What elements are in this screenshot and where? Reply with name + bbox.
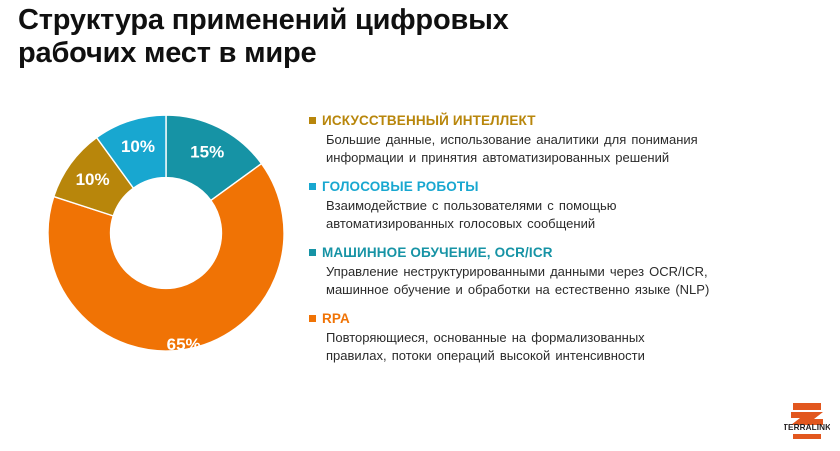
legend-description-line-2: правилах, потоки операций высокой интенс… [326,347,804,365]
legend-heading-row: ГОЛОСОВЫЕ РОБОТЫ [309,179,804,194]
donut-slice-label: 65% [167,335,201,354]
legend-description-line-1: Повторяющиеся, основанные на формализова… [326,329,804,347]
legend-item-machine-learning[interactable]: МАШИННОЕ ОБУЧЕНИЕ, OCR/ICR Управление не… [309,245,804,299]
page-title: Структура применений цифровых рабочих ме… [18,4,718,71]
donut-chart-svg: 15%65%10%10% [44,111,288,355]
legend-item-voice-robots[interactable]: ГОЛОСОВЫЕ РОБОТЫ Взаимодействие с пользо… [309,179,804,233]
legend-bullet-square-icon [309,183,316,190]
legend-heading-label: ГОЛОСОВЫЕ РОБОТЫ [322,179,479,194]
legend-heading-label: ИСКУССТВЕННЫЙ ИНТЕЛЛЕКТ [322,113,536,128]
legend-description-line-2: автоматизированных голосовых сообщений [326,215,804,233]
legend-description-line-2: информации и принятия автоматизированных… [326,149,804,167]
donut-slice-group [48,115,284,351]
legend-heading-row: ИСКУССТВЕННЫЙ ИНТЕЛЛЕКТ [309,113,804,128]
page-title-line-1: Структура применений цифровых [18,4,718,37]
donut-slice-label: 15% [190,143,224,162]
donut-chart: 15%65%10%10% [44,111,288,355]
legend-description: Взаимодействие с пользователями с помощь… [326,197,804,233]
legend-item-rpa[interactable]: RPA Повторяющиеся, основанные на формали… [309,311,804,365]
terralink-logo-mark-icon: TERRALINK [784,401,830,441]
donut-slice-label: 10% [76,170,110,189]
terralink-wordmark: TERRALINK [784,423,830,432]
legend-heading-label: RPA [322,311,350,326]
legend-bullet-square-icon [309,249,316,256]
page-title-line-2: рабочих мест в мире [18,37,718,70]
legend-heading-label: МАШИННОЕ ОБУЧЕНИЕ, OCR/ICR [322,245,553,260]
legend-description-line-1: Управление неструктурированными данными … [326,263,804,281]
legend-item-ai[interactable]: ИСКУССТВЕННЫЙ ИНТЕЛЛЕКТ Большие данные, … [309,113,804,167]
legend-description: Управление неструктурированными данными … [326,263,804,299]
legend-bullet-square-icon [309,117,316,124]
legend-description-line-1: Большие данные, использование аналитики … [326,131,804,149]
legend-description: Повторяющиеся, основанные на формализова… [326,329,804,365]
legend: ИСКУССТВЕННЫЙ ИНТЕЛЛЕКТ Большие данные, … [309,113,804,365]
legend-description: Большие данные, использование аналитики … [326,131,804,167]
legend-heading-row: МАШИННОЕ ОБУЧЕНИЕ, OCR/ICR [309,245,804,260]
legend-heading-row: RPA [309,311,804,326]
donut-slice-label: 10% [121,137,155,156]
legend-description-line-1: Взаимодействие с пользователями с помощь… [326,197,804,215]
terralink-logo: TERRALINK [784,401,830,441]
legend-description-line-2: машинное обучение и обработки на естеств… [326,281,804,299]
legend-bullet-square-icon [309,315,316,322]
